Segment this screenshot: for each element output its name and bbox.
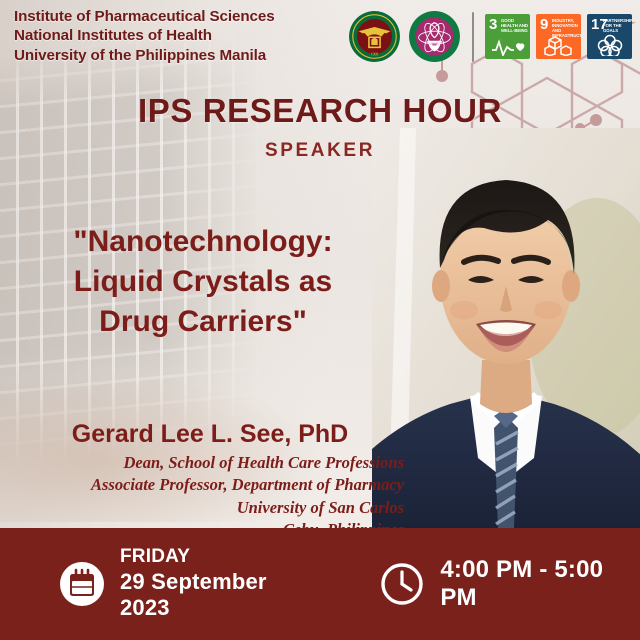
rings-icon [587,34,632,56]
svg-text:1908: 1908 [371,53,379,57]
sdg-badge-17: 17 Partnerships for the Goals [587,14,632,59]
org-line-1: Institute of Pharmaceutical Sciences [14,7,275,26]
sdg-badge-9: 9 Industry, Innovation and Infrastructur… [536,14,581,59]
sdg-badge-3: 3 Good Health and Well-being [485,14,530,59]
talk-title: "Nanotechnology: Liquid Crystals as Drug… [18,222,388,342]
cubes-icon [536,36,581,56]
affiliation-line-1: Dean, School of Health Care Professions [0,452,404,474]
date-full: 29 September 2023 [120,569,316,622]
affiliation-line-2: Associate Professor, Department of Pharm… [0,474,404,496]
event-title: IPS RESEARCH HOUR [0,92,640,130]
logo-strip: 1908 3 Good Health and Well-b [348,7,632,63]
event-poster: Institute of Pharmaceutical Sciences Nat… [0,0,640,640]
org-line-2: National Institutes of Health [14,26,275,45]
logo-divider [472,12,474,62]
talk-title-line-1: "Nanotechnology: [18,222,388,262]
pharmacy-seal-icon [408,10,461,63]
talk-title-line-2: Liquid Crystals as [18,262,388,302]
heartbeat-icon [485,38,530,56]
sdg-3-caption: Good Health and Well-being [501,18,528,33]
event-details-bar: FRIDAY 29 September 2023 4:00 PM - 5:00 … [0,528,640,640]
calendar-icon [58,560,106,608]
affiliation-line-3: University of San Carlos [0,497,404,519]
poster-header: Institute of Pharmaceutical Sciences Nat… [0,0,640,70]
organization-name: Institute of Pharmaceutical Sciences Nat… [14,7,275,65]
sdg-17-caption: Partnerships for the Goals [603,18,630,33]
sdg-9-number: 9 [540,17,548,32]
up-seal-icon: 1908 [348,10,401,63]
org-line-3: University of the Philippines Manila [14,46,275,65]
talk-title-line-3: Drug Carriers" [18,302,388,342]
clock-icon [378,560,426,608]
sdg-3-number: 3 [489,17,497,32]
speaker-kicker: SPEAKER [0,140,640,162]
speaker-name: Gerard Lee L. See, PhD [10,420,410,449]
time-range: 4:00 PM - 5:00 PM [440,556,640,612]
sdg-badge-group: 3 Good Health and Well-being 9 Industry,… [485,14,632,59]
date-day: FRIDAY [120,546,316,569]
date-text: FRIDAY 29 September 2023 [120,546,316,622]
time-info: 4:00 PM - 5:00 PM [378,556,640,612]
date-info: FRIDAY 29 September 2023 [58,546,316,622]
